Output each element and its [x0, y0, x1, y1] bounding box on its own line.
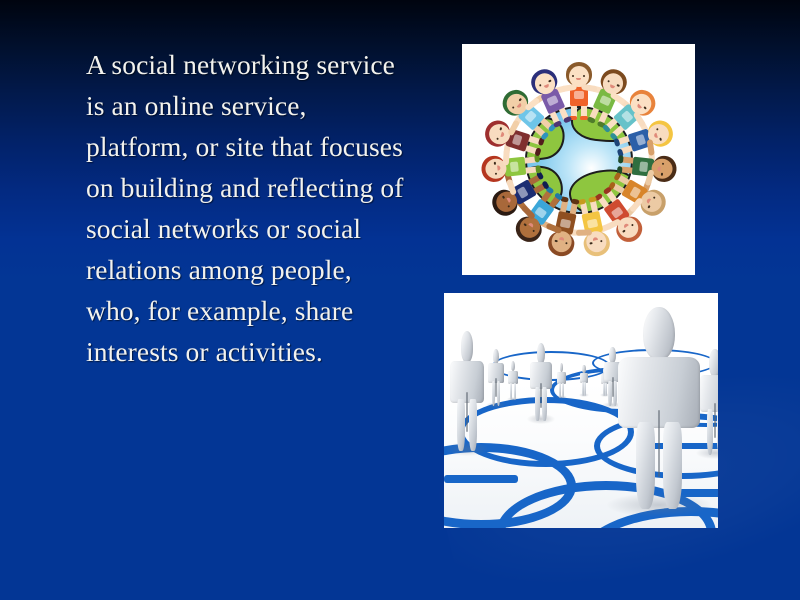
figure-leg — [542, 387, 547, 420]
figure-leg — [562, 383, 564, 398]
presentation-slide: A social networking service is an online… — [0, 0, 800, 600]
figure-shadow — [527, 414, 555, 423]
figure-head — [493, 349, 499, 364]
figure-leg — [613, 381, 617, 407]
child-shirt-motif — [610, 206, 623, 218]
child-shoe — [535, 165, 540, 173]
person-figure — [488, 349, 504, 405]
child-face — [657, 161, 663, 174]
figure-shadow — [607, 493, 712, 517]
globe-children-illustration — [462, 44, 695, 275]
figure-leg — [717, 409, 718, 455]
network-people-illustration — [444, 293, 718, 528]
child-shirt-motif — [574, 91, 584, 99]
figure-head — [643, 307, 674, 360]
child-shirt-motif — [546, 94, 558, 105]
child-shirt-motif — [511, 133, 522, 145]
child-shoe — [618, 154, 623, 162]
child-shirt-motif — [620, 110, 633, 123]
figure-leg-gap — [495, 378, 497, 397]
figure-leg — [663, 422, 682, 509]
child-shirt-motif — [559, 218, 570, 228]
child-shirt-motif — [629, 186, 641, 199]
figure-head — [560, 363, 563, 372]
figure-leg-gap — [714, 403, 716, 438]
figure-leg — [457, 399, 465, 451]
figure-leg — [636, 422, 655, 509]
slide-body-text: A social networking service is an online… — [86, 44, 406, 372]
figure-leg — [469, 399, 477, 451]
figure-head — [609, 347, 615, 363]
figure-leg-gap — [612, 377, 614, 397]
figure-torso — [557, 372, 566, 384]
figure-head — [461, 331, 474, 363]
child-shirt-motif — [524, 110, 537, 123]
child-shirt-motif — [635, 133, 646, 145]
person-figure — [530, 343, 552, 419]
figure-leg — [707, 409, 714, 455]
child-shirt-motif — [586, 218, 597, 228]
child-shirt-motif — [534, 206, 547, 218]
person-figure — [580, 365, 588, 395]
person-figure — [450, 331, 484, 449]
child-shoe — [571, 198, 580, 204]
person-figure — [557, 363, 566, 397]
figure-leg — [559, 383, 561, 398]
image-globe-children — [462, 44, 695, 275]
child-arm — [502, 149, 509, 165]
image-network-people — [444, 293, 718, 528]
child-arm — [575, 229, 591, 235]
person-figure — [508, 361, 518, 399]
child-shirt-motif — [516, 186, 528, 199]
child-shirt-motif — [639, 161, 648, 172]
figure-head — [537, 343, 545, 364]
figure-head — [582, 365, 585, 373]
figure-leg — [582, 382, 584, 395]
figure-leg — [514, 383, 516, 400]
figure-head — [709, 349, 718, 377]
child-face — [572, 75, 585, 80]
child-face — [493, 161, 499, 174]
person-figure-foreground — [618, 307, 700, 505]
figure-shadow — [445, 442, 489, 456]
figure-leg-gap — [540, 383, 542, 409]
figure-leg-gap — [466, 392, 468, 432]
figure-leg-gap — [658, 410, 660, 477]
network-link — [444, 475, 518, 483]
child-shirt-motif — [509, 161, 518, 172]
figure-head — [511, 361, 515, 371]
person-figure — [700, 349, 718, 453]
